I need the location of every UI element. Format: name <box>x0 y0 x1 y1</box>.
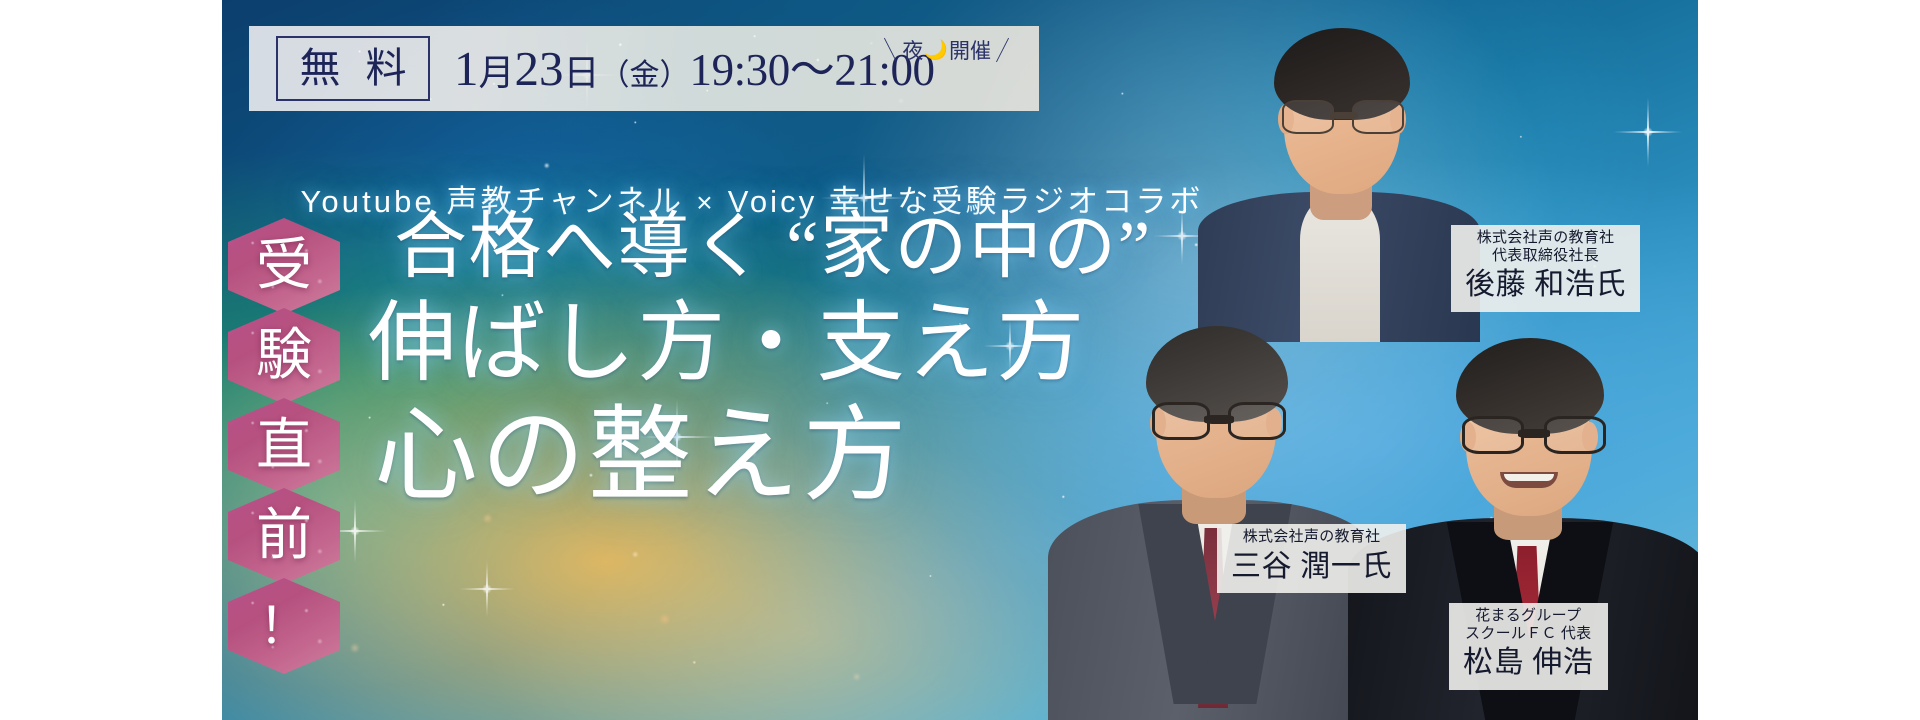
speaker-nameplate-mitani: 株式会社声の教育社 三谷 潤一氏 <box>1217 524 1406 593</box>
glasses-right-lens <box>1352 100 1404 134</box>
hex-sparkle-icon <box>228 308 340 404</box>
event-datetime: 1 月 23 日 （金） 19:30〜21:00 <box>454 44 935 93</box>
speaker-org: 株式会社声の教育社 <box>1231 529 1392 547</box>
glasses-bridge <box>1204 415 1234 424</box>
night-session-note: ＼ 夜 🌙 開催 ／ <box>880 35 1013 65</box>
glasses-right-lens <box>1544 416 1606 454</box>
speaker-role: スクールＦＣ 代表 <box>1463 626 1594 644</box>
hex-sparkle-icon <box>228 488 340 584</box>
hex-badge: 前 <box>228 488 340 584</box>
moon-icon: 🌙 <box>924 38 948 62</box>
date-day-of-week: （金） <box>600 61 690 91</box>
speaker-nameplate-goto: 株式会社声の教育社 代表取締役社長 後藤 和浩氏 <box>1451 225 1640 312</box>
hex-badge: 直 <box>228 398 340 494</box>
night-note-right-slash: ／ <box>988 32 1017 67</box>
free-badge-label: 無 料 <box>292 48 414 89</box>
sparkle-icon <box>458 560 516 618</box>
speaker-smile <box>1500 472 1558 488</box>
glasses-bridge <box>1518 429 1550 438</box>
date-month-number: 1 <box>454 44 479 93</box>
hex-sparkle-icon <box>228 398 340 494</box>
speaker-org: 株式会社声の教育社 <box>1465 230 1626 248</box>
glasses-left-lens <box>1152 402 1210 440</box>
night-note-left-slash: ＼ <box>876 32 905 67</box>
exam-countdown-badges: 受 験 直 前 ！ <box>228 218 346 668</box>
night-note-label: 夜 <box>902 35 923 65</box>
event-banner: 無 料 1 月 23 日 （金） 19:30〜21:00 ＼ 夜 🌙 開催 ／ … <box>222 0 1698 720</box>
speaker-org: 花まるグループ <box>1463 608 1594 626</box>
date-day-kanji: 日 <box>564 55 600 91</box>
free-badge: 無 料 <box>276 36 430 101</box>
date-day-number: 23 <box>515 44 564 93</box>
right-margin <box>1698 0 1920 720</box>
glasses-icon <box>1152 402 1284 436</box>
hex-badge: 受 <box>228 218 340 314</box>
hex-badge: 験 <box>228 308 340 404</box>
speaker-name: 三谷 潤一氏 <box>1231 549 1392 584</box>
speaker-photo-mitani <box>1048 222 1378 720</box>
event-info-bar: 無 料 1 月 23 日 （金） 19:30〜21:00 ＼ 夜 🌙 開催 ／ <box>249 26 1039 111</box>
hex-badge: ！ <box>228 578 340 674</box>
glasses-left-lens <box>1462 416 1524 454</box>
banner-stage: 無 料 1 月 23 日 （金） 19:30〜21:00 ＼ 夜 🌙 開催 ／ … <box>0 0 1920 720</box>
speaker-nameplate-matsushima: 花まるグループ スクールＦＣ 代表 松島 伸浩 <box>1449 603 1608 690</box>
glasses-left-lens <box>1282 100 1334 134</box>
glasses-right-lens <box>1228 402 1286 440</box>
speaker-role: 代表取締役社長 <box>1465 248 1626 266</box>
hex-sparkle-icon <box>228 578 340 674</box>
date-month-kanji: 月 <box>479 55 515 91</box>
hex-sparkle-icon <box>228 218 340 314</box>
glasses-icon <box>1462 416 1602 450</box>
left-margin <box>0 0 222 720</box>
night-note-suffix-label: 開催 <box>949 35 991 65</box>
glasses-bridge <box>1330 112 1358 119</box>
sparkle-icon <box>1612 96 1684 168</box>
speaker-name: 松島 伸浩 <box>1463 645 1594 680</box>
glasses-icon <box>1280 100 1404 132</box>
speaker-name: 後藤 和浩氏 <box>1465 267 1626 302</box>
